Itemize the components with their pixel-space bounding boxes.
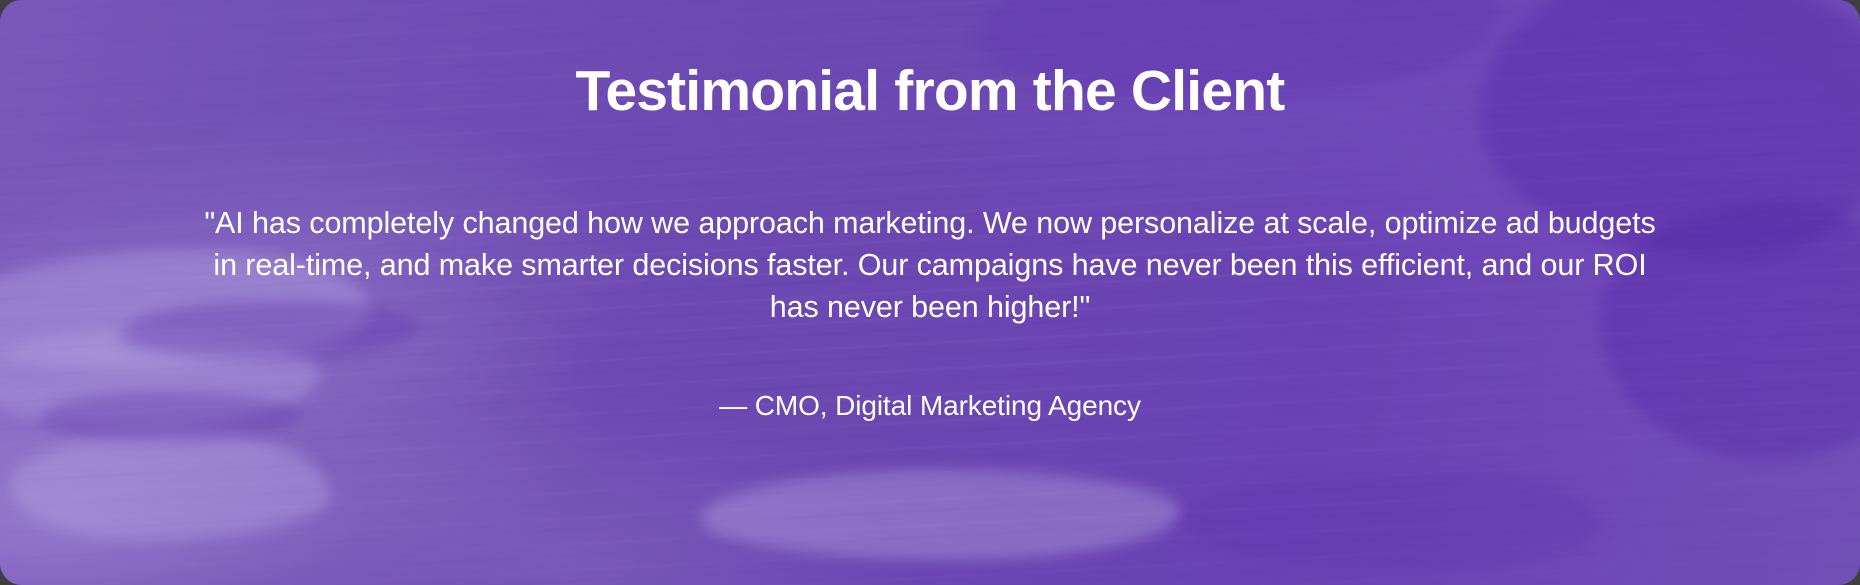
quote-line-1: "AI has completely changed how we approa… xyxy=(190,202,1670,244)
quote-line-2: in real-time, and make smarter decisions… xyxy=(190,244,1670,286)
page-title: Testimonial from the Client xyxy=(0,0,1860,122)
testimonial-quote: "AI has completely changed how we approa… xyxy=(190,122,1670,328)
paint-blotch-light-4 xyxy=(700,470,1180,560)
testimonial-banner: Testimonial from the Client "AI has comp… xyxy=(0,0,1860,585)
testimonial-content: Testimonial from the Client "AI has comp… xyxy=(0,0,1860,422)
quote-line-3: has never been higher!" xyxy=(190,286,1670,328)
paint-blotch-light-3 xyxy=(10,430,330,540)
quote-attribution: — CMO, Digital Marketing Agency xyxy=(0,328,1860,422)
paint-blotch-dark-6 xyxy=(1180,470,1600,570)
